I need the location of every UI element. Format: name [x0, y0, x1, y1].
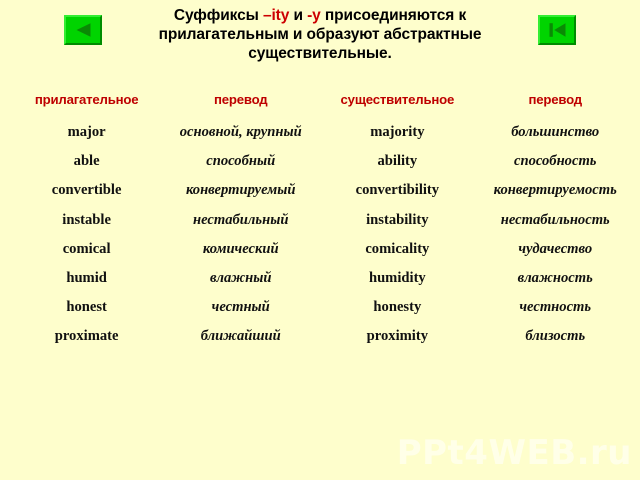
slide-title: Суффиксы –ity и -y присоединяются к прил…	[132, 6, 508, 63]
cell-noun-translation: нестабильность	[478, 206, 632, 235]
cell-noun-translation: чудачество	[478, 235, 632, 264]
cell-noun-translation: близость	[478, 322, 632, 351]
cell-noun-translation: влажность	[478, 264, 632, 293]
title-suffix-ity: –ity	[263, 7, 289, 24]
title-line1-before: Суффиксы	[174, 7, 263, 24]
table-row: convertibleконвертируемыйconvertibilityк…	[8, 176, 632, 205]
table-row: humidвлажныйhumidityвлажность	[8, 264, 632, 293]
first-slide-button[interactable]	[538, 15, 576, 45]
title-line1-mid: и	[289, 7, 307, 24]
table-body: majorосновной, крупныйmajorityбольшинств…	[8, 118, 632, 352]
cell-noun: proximity	[316, 322, 478, 351]
cell-noun: comicality	[316, 235, 478, 264]
cell-adjective-translation: нестабильный	[165, 206, 316, 235]
column-header-noun-translation: перевод	[478, 92, 632, 118]
cell-noun-translation: конвертируемость	[478, 176, 632, 205]
table-header-row: прилагательное перевод существительное п…	[8, 92, 632, 118]
triangle-left-icon	[75, 22, 92, 38]
title-suffix-y: -y	[307, 7, 321, 24]
cell-adjective: able	[8, 147, 165, 176]
cell-adjective: instable	[8, 206, 165, 235]
cell-adjective: major	[8, 118, 165, 147]
previous-slide-button[interactable]	[64, 15, 102, 45]
table-row: proximateближайшийproximityблизость	[8, 322, 632, 351]
title-line3: существительные.	[132, 44, 508, 63]
cell-noun: instability	[316, 206, 478, 235]
table-row: majorосновной, крупныйmajorityбольшинств…	[8, 118, 632, 147]
skip-to-start-icon	[548, 22, 567, 38]
site-watermark: PPt4WEB.ru	[397, 434, 632, 472]
cell-noun: honesty	[316, 293, 478, 322]
cell-adjective-translation: комический	[165, 235, 316, 264]
title-line2: прилагательным и образуют абстрактные	[132, 25, 508, 44]
word-formation-table: прилагательное перевод существительное п…	[8, 92, 632, 352]
cell-noun-translation: честность	[478, 293, 632, 322]
cell-adjective-translation: основной, крупный	[165, 118, 316, 147]
cell-noun: ability	[316, 147, 478, 176]
column-header-adjective-translation: перевод	[165, 92, 316, 118]
table-row: honestчестныйhonestyчестность	[8, 293, 632, 322]
cell-adjective: convertible	[8, 176, 165, 205]
cell-adjective: humid	[8, 264, 165, 293]
table-row: comicalкомическийcomicalityчудачество	[8, 235, 632, 264]
cell-noun: majority	[316, 118, 478, 147]
table-row: instableнестабильныйinstabilityнестабиль…	[8, 206, 632, 235]
title-line1-after: присоединяются к	[321, 7, 466, 24]
cell-adjective-translation: влажный	[165, 264, 316, 293]
slide-canvas: Суффиксы –ity и -y присоединяются к прил…	[0, 0, 640, 480]
cell-adjective: comical	[8, 235, 165, 264]
cell-adjective-translation: честный	[165, 293, 316, 322]
cell-adjective: honest	[8, 293, 165, 322]
cell-noun-translation: способность	[478, 147, 632, 176]
column-header-noun: существительное	[316, 92, 478, 118]
cell-noun: convertibility	[316, 176, 478, 205]
column-header-adjective: прилагательное	[8, 92, 165, 118]
cell-noun-translation: большинство	[478, 118, 632, 147]
cell-noun: humidity	[316, 264, 478, 293]
cell-adjective-translation: конвертируемый	[165, 176, 316, 205]
cell-adjective-translation: ближайший	[165, 322, 316, 351]
cell-adjective: proximate	[8, 322, 165, 351]
cell-adjective-translation: способный	[165, 147, 316, 176]
table-row: ableспособныйabilityспособность	[8, 147, 632, 176]
